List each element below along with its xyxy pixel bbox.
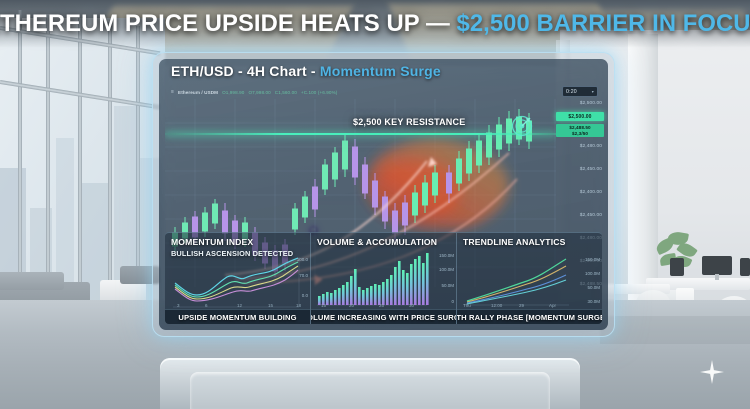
price-tick: $2,450.00	[580, 167, 602, 172]
headline-part-1: ETHEREUM PRICE UPSIDE HEATS UP —	[0, 10, 456, 37]
monitor	[702, 256, 732, 275]
panel-footer: VOLUME INCREASING WITH PRICE SURGE	[311, 309, 456, 324]
timeframe-value: 0:20	[566, 89, 577, 95]
screen-body: ETH/USD - 4H Chart - Momentum Surge ≡ Et…	[159, 59, 608, 330]
ticker-symbol: Ethereum / USDM	[178, 90, 218, 95]
panel-momentum-index[interactable]: MOMENTUM INDEX BULLISH ASCENSION DETECTE…	[165, 233, 310, 324]
monitor-stand	[715, 274, 719, 280]
resistance-label: $2,500 KEY RESISTANCE	[353, 117, 465, 127]
panel-y-label: 0	[451, 299, 454, 304]
headline-text: ETHEREUM PRICE UPSIDE HEATS UP — $2,500 …	[0, 10, 750, 38]
ethereum-icon: ≡	[171, 89, 174, 95]
headline-banner: ETHEREUM PRICE UPSIDE HEATS UP — $2,500 …	[0, 0, 750, 48]
panel-x-label: 30	[409, 303, 414, 308]
panel-x-label: Apr	[549, 303, 556, 308]
monitor	[740, 258, 750, 276]
headline-part-2: $2,500 BARRIER IN FOCUS	[456, 10, 750, 37]
timeframe-badge[interactable]: 0:20 ▾	[562, 86, 598, 97]
secondary-price-bottom: $2,3/50	[572, 131, 588, 137]
chart-header: ETH/USD - 4H Chart - Momentum Surge	[159, 59, 608, 86]
panel-footer: ETH RALLY PHASE [MOMENTUM SURGE]	[457, 309, 602, 324]
monitor	[670, 258, 684, 276]
ticker-low: C1,560.00	[275, 90, 297, 95]
floor-rug	[600, 316, 750, 344]
resistance-line	[165, 133, 556, 135]
secondary-price-badge[interactable]: $2,488.50 $2,3/50	[556, 124, 604, 137]
panel-x-label: 3	[177, 303, 180, 308]
display-pedestal-inner	[190, 372, 550, 409]
chart-title-highlight: Momentum Surge	[320, 63, 441, 79]
ticker-high: O7,998.00	[248, 90, 270, 95]
panel-x-label: 20	[349, 303, 354, 308]
panel-x-label: 25	[379, 303, 384, 308]
panel-y-label: 50.0M	[587, 285, 600, 290]
panel-x-label: 15	[268, 303, 273, 308]
panel-title: MOMENTUM INDEX	[171, 237, 305, 247]
panel-y-label: 100.0	[297, 257, 308, 262]
holographic-chart-screen[interactable]: ETH/USD - 4H Chart - Momentum Surge ≡ Et…	[152, 52, 615, 337]
panel-footer: UPSIDE MOMENTUM BUILDING	[165, 309, 310, 324]
panel-x-label: 15	[321, 303, 326, 308]
panel-x-label: 12	[237, 303, 242, 308]
panel-volume-accumulation[interactable]: VOLUME & ACCUMULATION	[310, 233, 456, 324]
panel-trendline-analytics[interactable]: TRENDLINE ANALYTICS 150.0M 100.0M 50.0M …	[456, 233, 602, 324]
panel-x-label: 18	[296, 303, 301, 308]
panel-x-label: 29	[519, 303, 524, 308]
price-tick: $2,400.00	[580, 190, 602, 195]
chevron-down-icon: ▾	[592, 89, 594, 94]
chart-title-main: ETH/USD - 4H Chart -	[171, 63, 320, 79]
ticker-row: ≡ Ethereum / USDM O1,998.90 O7,998.00 C1…	[171, 89, 337, 95]
chart-title: ETH/USD - 4H Chart - Momentum Surge	[171, 63, 596, 79]
volume-bar-chart	[315, 251, 437, 309]
panel-x-label: 6	[205, 303, 208, 308]
panel-y-label: 70.0	[299, 273, 308, 278]
ticker-change: +C.100 (+6.90%)	[301, 90, 338, 95]
panel-title: VOLUME & ACCUMULATION	[317, 237, 451, 247]
price-tick: $2,500.00	[580, 101, 602, 106]
lounge-sofa-back	[0, 272, 64, 290]
target-icon	[510, 113, 534, 137]
price-tick: $2,480.00	[580, 144, 602, 149]
panel-y-label: 50.0M	[441, 283, 454, 288]
panel-y-label: 150.0M	[439, 253, 454, 258]
indicator-panels: MOMENTUM INDEX BULLISH ASCENSION DETECTE…	[165, 232, 602, 324]
panel-y-label: 150.0M	[585, 257, 600, 262]
trendline-chart	[461, 253, 581, 309]
panel-y-label: 100.0M	[585, 271, 600, 276]
panel-y-label: 30.0M	[587, 299, 600, 304]
panel-title: TRENDLINE ANALYTICS	[463, 237, 597, 247]
panel-y-label: 0.0	[302, 293, 308, 298]
live-price-badge[interactable]: $2,500.00	[556, 112, 604, 121]
price-tick: $2,450.00	[580, 213, 602, 218]
screenshot-root: ETHEREUM PRICE UPSIDE HEATS UP — $2,500 …	[0, 0, 750, 409]
panel-x-label: Thu	[463, 303, 471, 308]
panel-x-label: 12:00	[491, 303, 502, 308]
office-pillar	[628, 34, 658, 304]
ticker-open: O1,998.90	[222, 90, 244, 95]
panel-y-label: 100.0M	[439, 267, 454, 272]
